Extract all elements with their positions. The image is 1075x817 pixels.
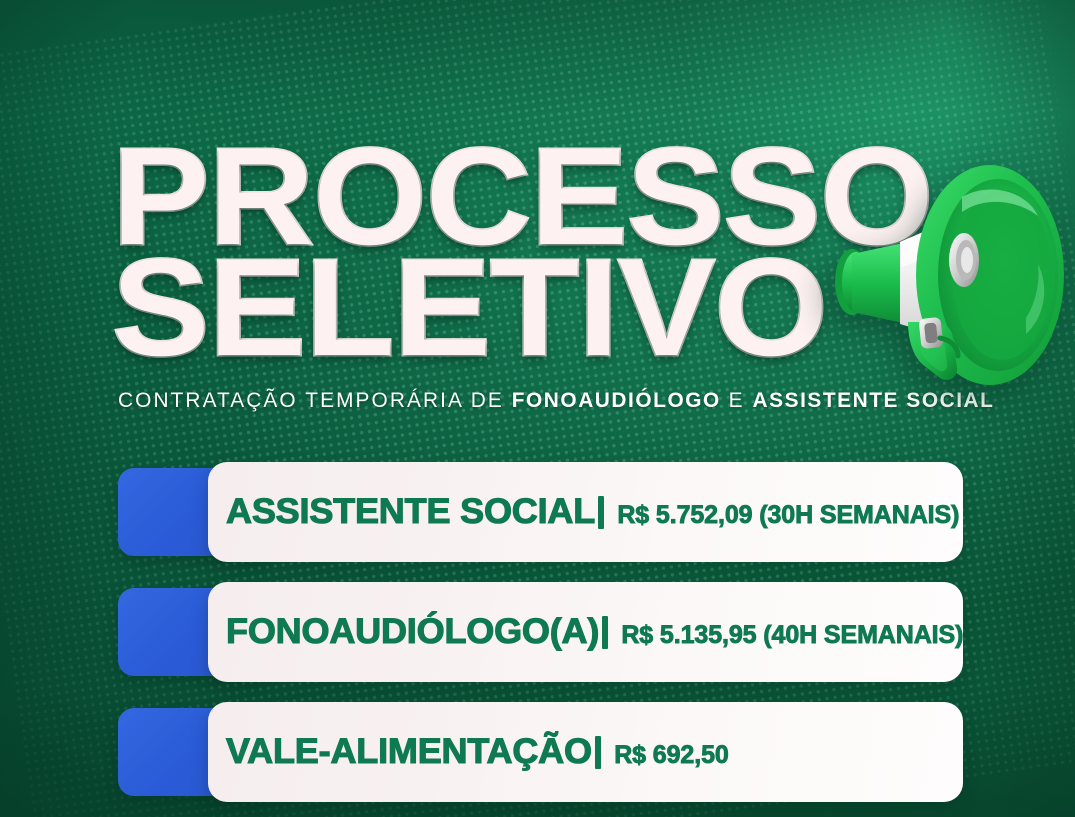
offer-text: ASSISTENTE SOCIAL R$ 5.752,09 (30H SEMAN… [226,492,959,532]
page-title: PROCESSO SELETIVO [112,139,886,366]
headline-line-2: SELETIVO [112,250,933,367]
list-item: VALE-ALIMENTAÇÃO R$ 692,50 [0,702,1075,802]
offer-role: VALE-ALIMENTAÇÃO [226,732,592,772]
subtitle: CONTRATAÇÃO TEMPORÁRIA DE FONOAUDIÓLOGO … [118,388,994,413]
megaphone-icon [812,142,1067,387]
offer-role: ASSISTENTE SOCIAL [226,492,595,532]
offer-card: FONOAUDIÓLOGO(A) R$ 5.135,95 (40H SEMANA… [208,582,963,682]
offer-list: ASSISTENTE SOCIAL R$ 5.752,09 (30H SEMAN… [0,462,1075,817]
offer-separator [602,616,608,649]
offer-text: VALE-ALIMENTAÇÃO R$ 692,50 [226,732,729,772]
offer-card: ASSISTENTE SOCIAL R$ 5.752,09 (30H SEMAN… [208,462,963,562]
processo-seletivo-poster: PROCESSO SELETIVO CONTRATAÇÃO TEMPORÁRIA… [0,0,1075,817]
subtitle-lead: CONTRATAÇÃO TEMPORÁRIA DE [118,388,512,412]
offer-value: R$ 692,50 [614,741,728,770]
offer-role: FONOAUDIÓLOGO(A) [226,612,599,652]
offer-text: FONOAUDIÓLOGO(A) R$ 5.135,95 (40H SEMANA… [226,612,963,652]
subtitle-conjunction: E [721,388,753,412]
offer-separator [598,496,604,529]
offer-card: VALE-ALIMENTAÇÃO R$ 692,50 [208,702,963,802]
subtitle-role-assistente-social: ASSISTENTE SOCIAL [753,388,995,412]
list-item: ASSISTENTE SOCIAL R$ 5.752,09 (30H SEMAN… [0,462,1075,562]
subtitle-role-fonoaudiologo: FONOAUDIÓLOGO [512,388,721,412]
list-item: FONOAUDIÓLOGO(A) R$ 5.135,95 (40H SEMANA… [0,582,1075,682]
offer-value: R$ 5.752,09 (30H SEMANAIS) [617,501,959,530]
offer-separator [595,736,601,769]
offer-value: R$ 5.135,95 (40H SEMANAIS) [621,621,963,650]
